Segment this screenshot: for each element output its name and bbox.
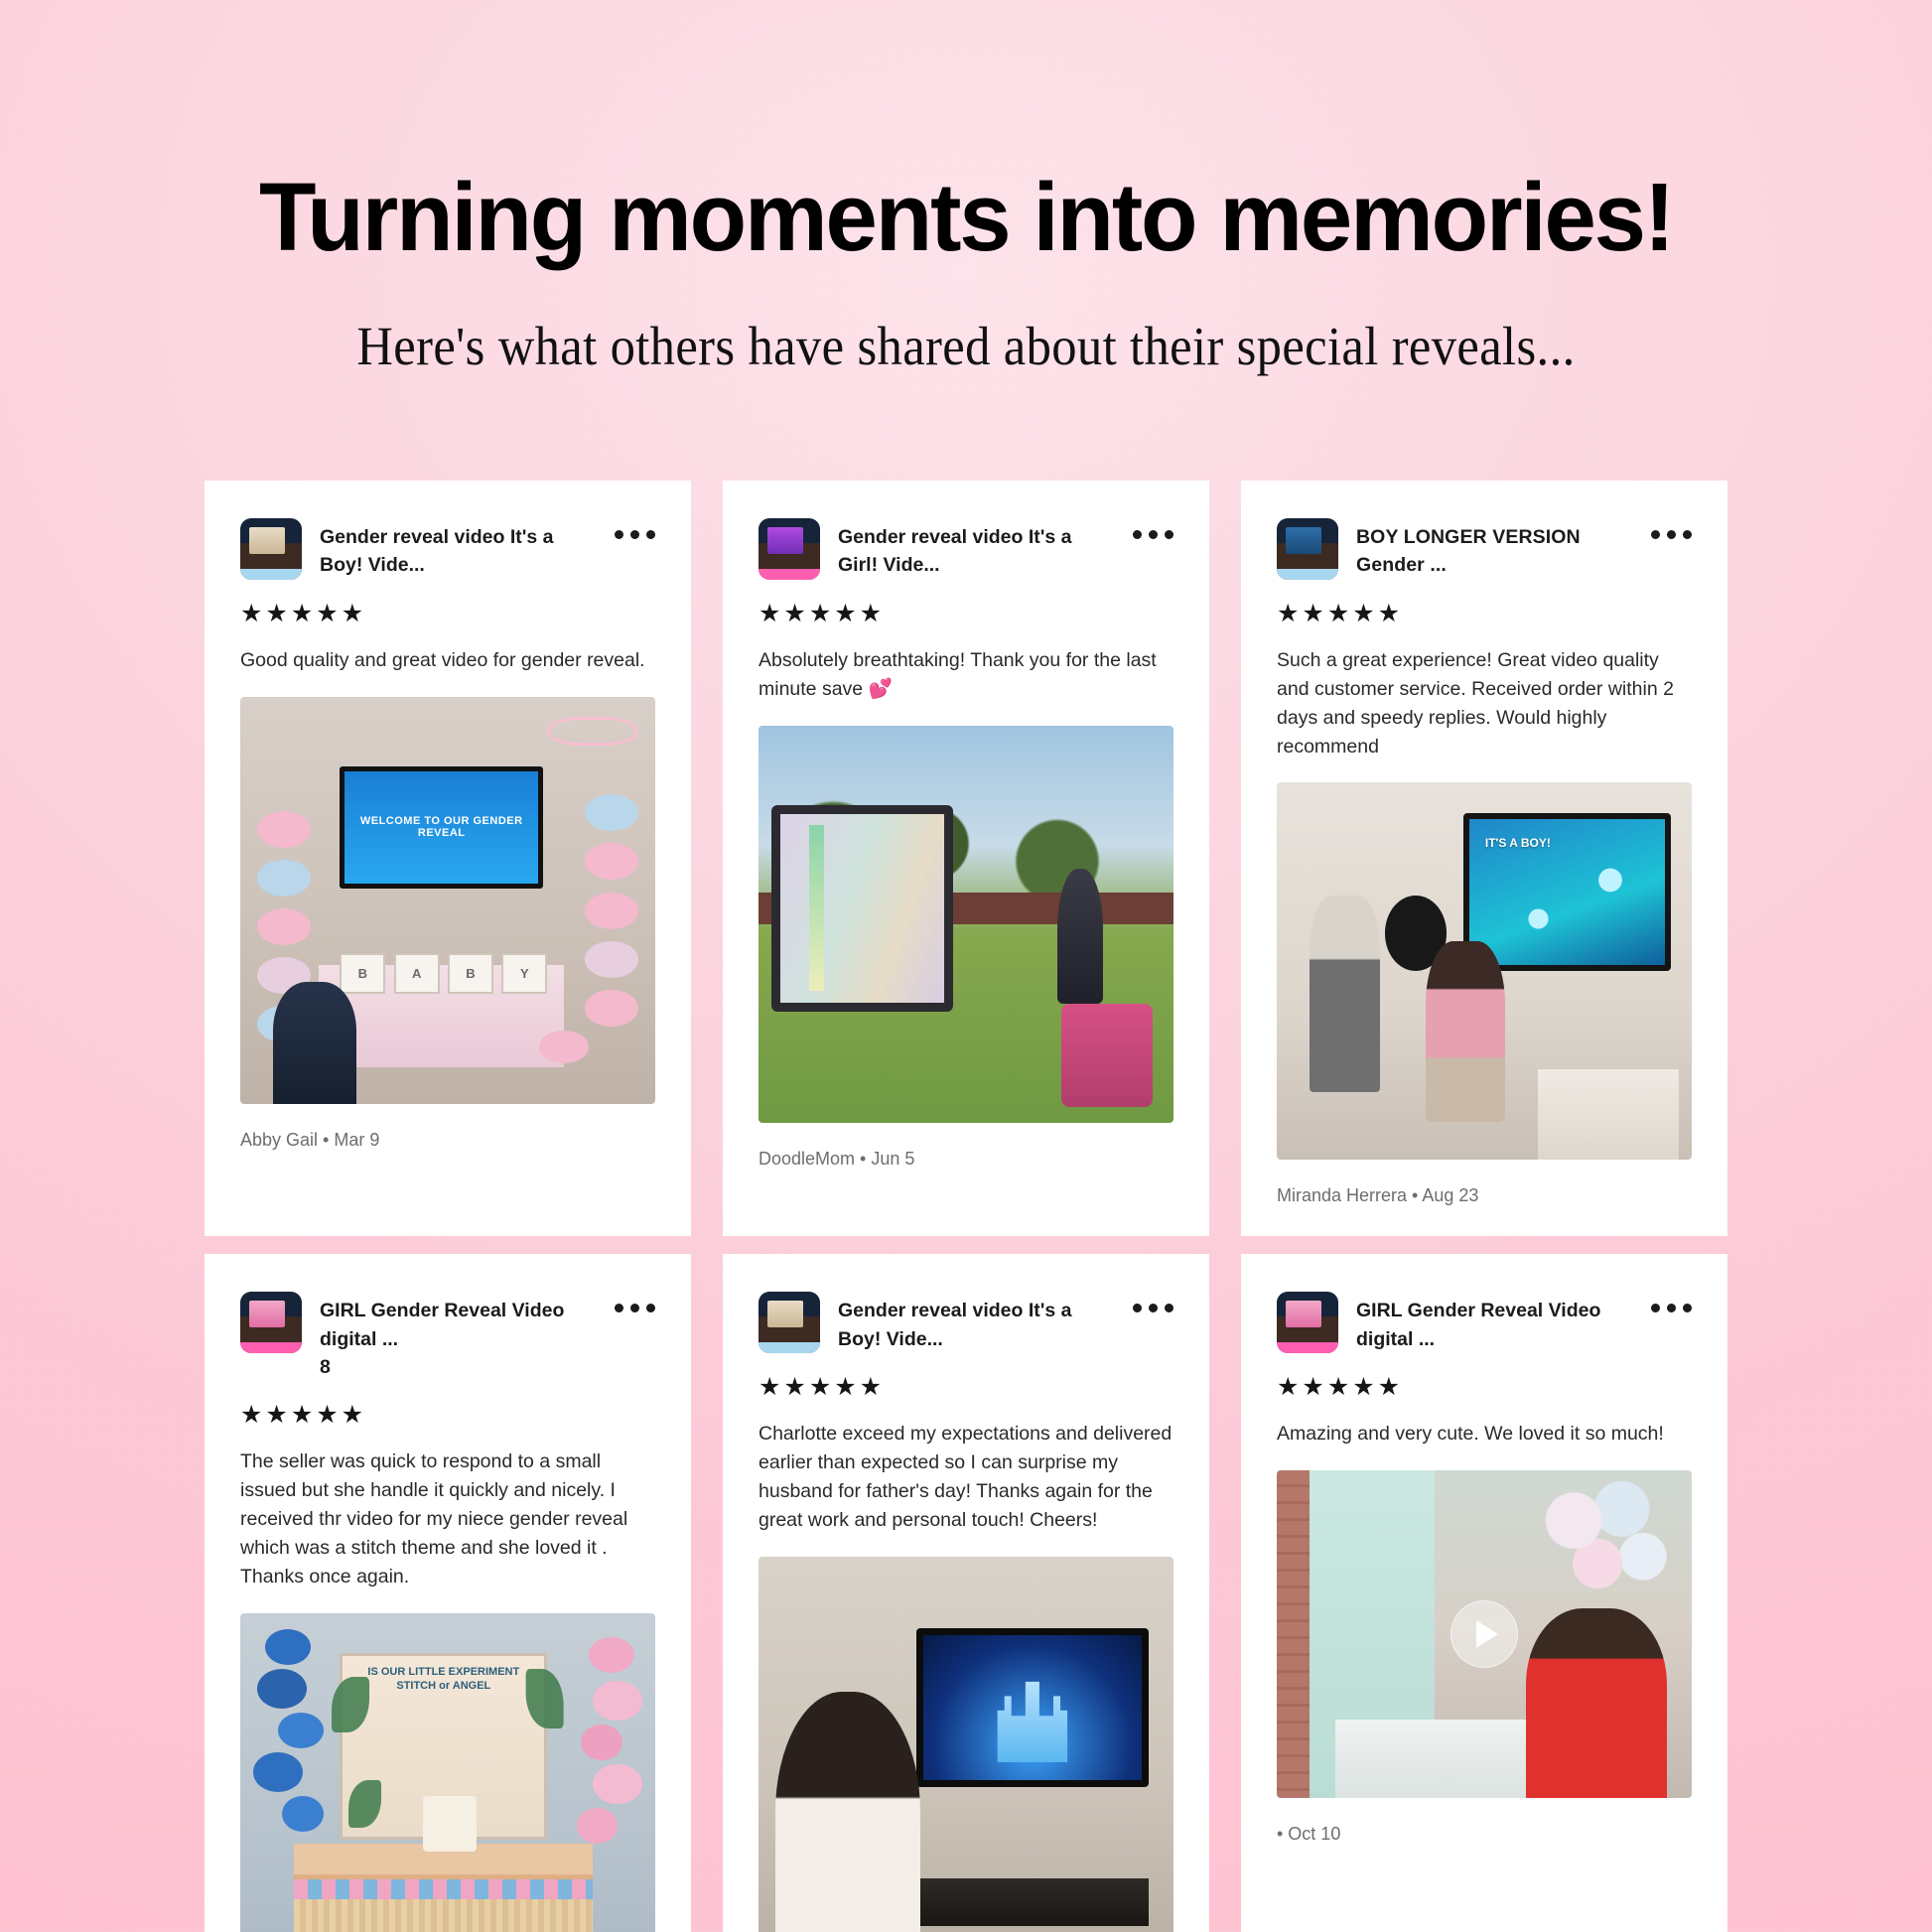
listing-thumbnail[interactable] [1277, 1292, 1338, 1353]
review-text: The seller was quick to respond to a sma… [240, 1448, 655, 1590]
more-options-icon[interactable] [615, 518, 655, 539]
review-card[interactable]: Gender reveal video It's a Boy! Vide... … [723, 1254, 1209, 1932]
review-card-header: BOY LONGER VERSION Gender ... [1277, 518, 1692, 580]
review-byline: Miranda Herrera • Aug 23 [1277, 1185, 1692, 1206]
rating-stars: ★★★★★ [240, 602, 655, 626]
review-photo[interactable]: WELCOME TO OUR GENDER REVEAL B A B Y [240, 697, 655, 1104]
photo-caption: WELCOME TO OUR GENDER REVEAL [345, 815, 538, 839]
letter-block: B [340, 953, 385, 994]
more-options-icon[interactable] [615, 1292, 655, 1312]
listing-title-text: GIRL Gender Reveal Video digital ... [320, 1300, 564, 1349]
more-options-icon[interactable] [1651, 518, 1692, 539]
rating-stars: ★★★★★ [240, 1403, 655, 1428]
listing-title[interactable]: Gender reveal video It's a Boy! Vide... [320, 518, 587, 580]
review-text: Good quality and great video for gender … [240, 646, 655, 675]
review-card[interactable]: GIRL Gender Reveal Video digital ... 8 ★… [205, 1254, 691, 1932]
review-text: Amazing and very cute. We loved it so mu… [1277, 1420, 1692, 1449]
listing-thumbnail[interactable] [240, 1292, 302, 1353]
review-photo[interactable]: IT'S A BOY! [1277, 782, 1692, 1160]
reviews-grid: Gender reveal video It's a Boy! Vide... … [205, 481, 1727, 1932]
rating-stars: ★★★★★ [759, 602, 1173, 626]
letter-block: A [394, 953, 440, 994]
rating-stars: ★★★★★ [1277, 1375, 1692, 1400]
page-header: Turning moments into memories! Here's wh… [0, 0, 1932, 377]
review-photo[interactable] [759, 1557, 1173, 1932]
listing-thumbnail[interactable] [759, 518, 820, 580]
more-options-icon[interactable] [1133, 1292, 1173, 1312]
more-options-icon[interactable] [1651, 1292, 1692, 1312]
listing-thumbnail[interactable] [1277, 518, 1338, 580]
listing-title[interactable]: Gender reveal video It's a Boy! Vide... [838, 1292, 1105, 1353]
listing-thumbnail[interactable] [240, 518, 302, 580]
review-text: Such a great experience! Great video qua… [1277, 646, 1692, 760]
listing-title[interactable]: GIRL Gender Reveal Video digital ... [1356, 1292, 1623, 1353]
review-card[interactable]: BOY LONGER VERSION Gender ... ★★★★★ Such… [1241, 481, 1727, 1236]
listing-title-line2: 8 [320, 1356, 331, 1378]
review-text: Absolutely breathtaking! Thank you for t… [759, 646, 1173, 704]
listing-thumbnail[interactable] [759, 1292, 820, 1353]
review-card-header: Gender reveal video It's a Boy! Vide... [759, 1292, 1173, 1353]
listing-title[interactable]: Gender reveal video It's a Girl! Vide... [838, 518, 1105, 580]
review-card[interactable]: GIRL Gender Reveal Video digital ... ★★★… [1241, 1254, 1727, 1932]
listing-title[interactable]: BOY LONGER VERSION Gender ... [1356, 518, 1623, 580]
review-card-header: GIRL Gender Reveal Video digital ... [1277, 1292, 1692, 1353]
page-subtitle: Here's what others have shared about the… [77, 315, 1855, 377]
review-card-header: Gender reveal video It's a Girl! Vide... [759, 518, 1173, 580]
listing-title[interactable]: GIRL Gender Reveal Video digital ... 8 [320, 1292, 587, 1381]
review-card-header: Gender reveal video It's a Boy! Vide... [240, 518, 655, 580]
review-byline: DoodleMom • Jun 5 [759, 1149, 1173, 1170]
review-text: Charlotte exceed my expectations and del… [759, 1420, 1173, 1534]
review-card[interactable]: Gender reveal video It's a Boy! Vide... … [205, 481, 691, 1236]
letter-block: Y [501, 953, 547, 994]
letter-block: B [448, 953, 493, 994]
play-icon[interactable] [1450, 1600, 1518, 1668]
review-photo[interactable]: IS OUR LITTLE EXPERIMENT STITCH or ANGEL [240, 1613, 655, 1932]
review-card[interactable]: Gender reveal video It's a Girl! Vide...… [723, 481, 1209, 1236]
rating-stars: ★★★★★ [759, 1375, 1173, 1400]
more-options-icon[interactable] [1133, 518, 1173, 539]
photo-caption: IT'S A BOY! [1485, 837, 1551, 850]
review-card-header: GIRL Gender Reveal Video digital ... 8 [240, 1292, 655, 1381]
rating-stars: ★★★★★ [1277, 602, 1692, 626]
page-title: Turning moments into memories! [29, 169, 1903, 265]
review-video[interactable] [1277, 1470, 1692, 1798]
review-byline: • Oct 10 [1277, 1824, 1692, 1845]
review-photo[interactable] [759, 726, 1173, 1123]
review-byline: Abby Gail • Mar 9 [240, 1130, 655, 1151]
